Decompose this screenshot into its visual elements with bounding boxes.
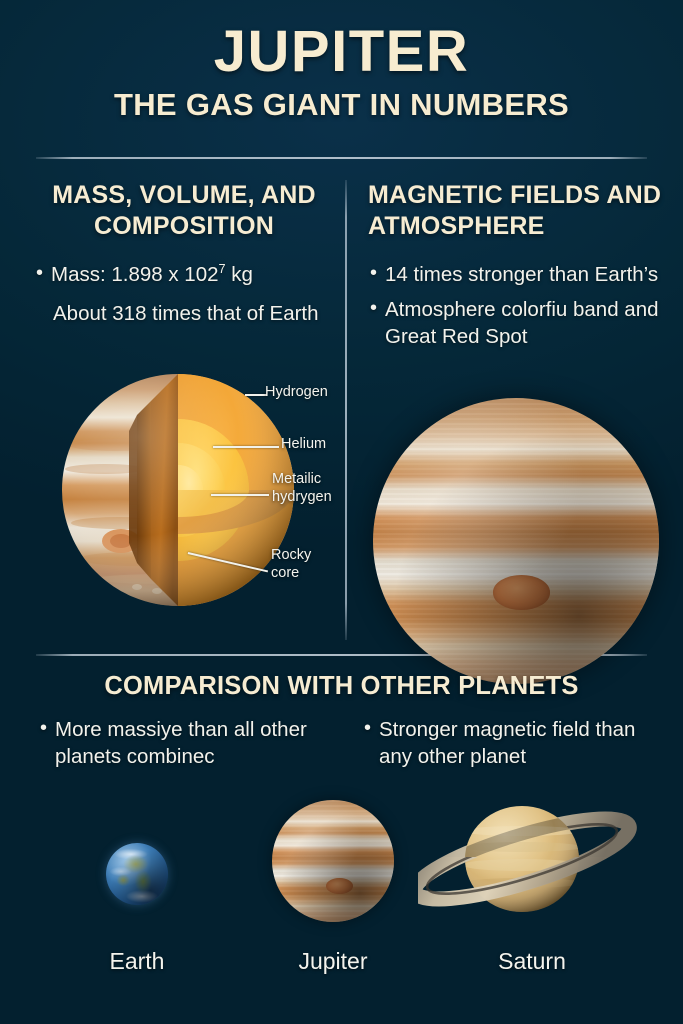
bullet-stronger-field: Stronger magnetic field than any other p…: [362, 716, 662, 771]
earth-planet-image: [106, 843, 168, 905]
mass-bullet-list: Mass: 1.898 x 1027 kg About 318 times th…: [34, 261, 334, 328]
divider-top: [36, 157, 647, 159]
title-block: JUPITER THE GAS GIANT IN NUMBERS: [0, 22, 683, 123]
earth-continents: [106, 843, 168, 905]
leader-hydrogen: [245, 394, 267, 396]
planet-label-jupiter: Jupiter: [253, 948, 413, 975]
jupiter-bands: [373, 398, 659, 684]
jupiter-full-planet-image: [373, 398, 659, 684]
bullet-mass-value: Mass: 1.898 x 1027 kg: [34, 261, 334, 288]
cutaway-shading: [62, 374, 294, 606]
jupiter-comparison-image: [272, 800, 394, 922]
great-red-spot: [493, 575, 550, 609]
label-rocky-core: Rocky core: [271, 547, 311, 582]
section-heading-comparison: COMPARISON WITH OTHER PLANETS: [0, 672, 683, 701]
comparison-bullets-left: More massiye than all other planets comb…: [38, 716, 338, 779]
section-heading-mass: MASS, VOLUME, AND COMPOSITION: [34, 180, 334, 243]
mass-exponent: 7: [219, 261, 226, 276]
planet-label-saturn: Saturn: [452, 948, 612, 975]
section-magnetic-atmosphere: MAGNETIC FIELDS AND ATMOSPHERE 14 times …: [368, 180, 668, 358]
mass-suffix: kg: [226, 263, 253, 286]
label-hydrogen: Hydrogen: [265, 384, 328, 402]
label-metallic-hydrogen: Metailic hydrygen: [272, 471, 332, 506]
section-heading-magnetic: MAGNETIC FIELDS AND ATMOSPHERE: [368, 180, 668, 243]
comparison-bullets-right: Stronger magnetic field than any other p…: [362, 716, 662, 779]
great-red-spot-small: [326, 878, 353, 894]
mass-prefix: Mass: 1.898 x 102: [51, 263, 219, 286]
bullet-mass-note: About 318 times that of Earth: [34, 300, 334, 327]
saturn-planet-image: [418, 791, 646, 927]
page-subtitle: THE GAS GIANT IN NUMBERS: [0, 87, 683, 123]
bullet-atmosphere: Atmosphere colorfiu band and Great Red S…: [368, 296, 668, 351]
page-title: JUPITER: [0, 22, 683, 81]
jupiter-comparison-bands: [272, 800, 394, 922]
leader-helium: [213, 446, 279, 448]
infographic-poster: JUPITER THE GAS GIANT IN NUMBERS MASS, V…: [0, 0, 683, 1024]
divider-vertical: [345, 180, 347, 640]
leader-metallic: [211, 494, 269, 496]
bullet-magnetic-strength: 14 times stronger than Earth’s: [368, 261, 668, 288]
label-helium: Helium: [281, 436, 326, 454]
bullet-more-massive: More massiye than all other planets comb…: [38, 716, 338, 771]
planet-label-earth: Earth: [57, 948, 217, 975]
magnetic-bullet-list: 14 times stronger than Earth’s Atmospher…: [368, 261, 668, 351]
section-mass-volume-composition: MASS, VOLUME, AND COMPOSITION Mass: 1.89…: [34, 180, 334, 335]
